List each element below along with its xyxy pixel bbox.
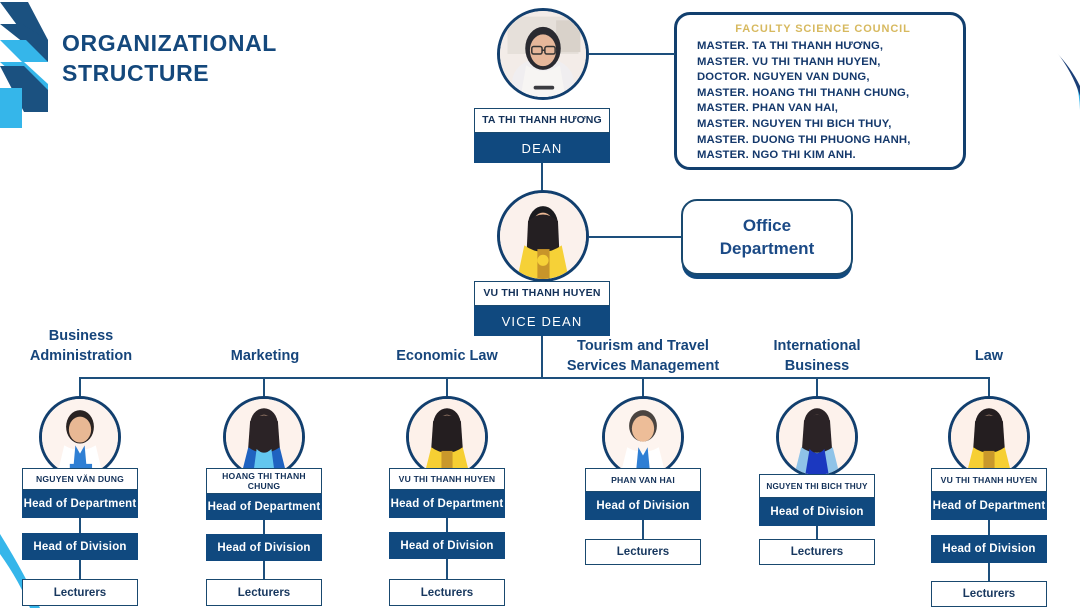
dept-title-line1: Economic Law (396, 348, 498, 364)
council-member-list: MASTER. TA THI THANH HƯƠNG, MASTER. VU T… (697, 39, 949, 164)
office-department-line2: Department (720, 239, 814, 258)
dept-title-line2: Business (785, 358, 849, 374)
council-member: MASTER. HOANG THI THANH CHUNG, (697, 86, 949, 102)
avatar-vice-dean (497, 190, 589, 282)
connector-dept-2-a (263, 520, 265, 534)
dept-title-marketing: Marketing (184, 346, 346, 366)
dean-role: DEAN (522, 141, 563, 156)
dept-3-box-head-of-department: Head of Department (389, 490, 505, 518)
dept-2-name-box: HOANG THI THANH CHUNG (206, 468, 322, 494)
decorative-swoosh-top-right (960, 0, 1080, 110)
connector-dept-1-a (79, 518, 81, 533)
dept-6-box-lecturers: Lecturers (931, 581, 1047, 607)
vice-dean-role-box: VICE DEAN (474, 306, 610, 336)
dept-1-box-lecturers: Lecturers (22, 579, 138, 606)
avatar-dept-1 (39, 396, 121, 478)
page-title-line2: STRUCTURE (62, 58, 392, 88)
office-department-box: Office Department (681, 199, 853, 275)
dept-4-box-head-of-division: Head of Division (585, 492, 701, 520)
dept-title-law: Law (908, 346, 1070, 366)
dept-title-business-administration: Business Administration (0, 326, 162, 366)
dept-6-name-box: VU THI THANH HUYEN (931, 468, 1047, 492)
vice-dean-name-box: VU THI THANH HUYEN (474, 281, 610, 306)
dept-4-box-lecturers: Lecturers (585, 539, 701, 565)
dept-1-name-box: NGUYEN VĂN DUNG (22, 468, 138, 490)
page-title: ORGANIZATIONAL STRUCTURE (62, 28, 392, 88)
connector-dean-to-council (589, 53, 675, 55)
vice-dean-name: VU THI THANH HUYEN (483, 288, 600, 299)
dept-3-name: VU THI THANH HUYEN (399, 474, 496, 485)
vice-dean-role: VICE DEAN (502, 314, 583, 329)
connector-dept-6-b (988, 563, 990, 581)
council-member: MASTER. DUONG THI PHUONG HANH, (697, 133, 949, 149)
connector-dept-5-a (816, 526, 818, 539)
dept-title-line1: International (773, 338, 860, 354)
dept-3-name-box: VU THI THANH HUYEN (389, 468, 505, 490)
dept-title-economic-law: Economic Law (366, 346, 528, 366)
avatar-dept-2 (223, 396, 305, 478)
dept-title-line1: Marketing (231, 348, 300, 364)
connector-dept-1-b (79, 560, 81, 579)
connector-dept-4-a (642, 520, 644, 539)
dept-3-box-lecturers: Lecturers (389, 579, 505, 606)
page-title-line1: ORGANIZATIONAL (62, 30, 277, 56)
dept-title-tourism-and-travel: Tourism and Travel Services Management (541, 336, 745, 376)
connector-dept-6-a (988, 520, 990, 535)
dept-title-line2: Administration (30, 348, 132, 364)
council-member: MASTER. VU THI THANH HUYEN, (697, 55, 949, 71)
council-member: MASTER. NGO THI KIM ANH. (697, 148, 949, 164)
avatar-dept-5 (776, 396, 858, 478)
dept-title-international-business: International Business (736, 336, 898, 376)
dept-5-box-head-of-division: Head of Division (759, 498, 875, 526)
department-bus-line (80, 377, 990, 379)
dept-6-box-head-of-department: Head of Department (931, 492, 1047, 520)
brand-logo-icon (0, 0, 50, 128)
council-member: MASTER. NGUYEN THI BICH THUY, (697, 117, 949, 133)
dept-4-name: PHAN VAN HAI (611, 475, 675, 486)
dept-2-box-head-of-department: Head of Department (206, 494, 322, 520)
dept-1-box-head-of-division: Head of Division (22, 533, 138, 560)
avatar-dept-4 (602, 396, 684, 478)
connector-dept-2-b (263, 561, 265, 579)
dean-name: TA THI THANH HƯƠNG (482, 115, 602, 126)
avatar-dean (497, 8, 589, 100)
dept-2-box-lecturers: Lecturers (206, 579, 322, 606)
dept-1-name: NGUYEN VĂN DUNG (36, 474, 124, 485)
avatar-dept-6 (948, 396, 1030, 478)
dept-title-line1: Law (975, 348, 1003, 364)
connector-dept-3-b (446, 559, 448, 579)
connector-dept-3-a (446, 518, 448, 532)
dept-4-name-box: PHAN VAN HAI (585, 468, 701, 492)
avatar-dept-3 (406, 396, 488, 478)
dean-role-box: DEAN (474, 133, 610, 163)
dept-5-name-box: NGUYEN THI BICH THUY (759, 474, 875, 498)
dept-6-box-head-of-division: Head of Division (931, 535, 1047, 563)
dept-5-name: NGUYEN THI BICH THUY (766, 481, 867, 492)
connector-vicedean-to-office (589, 236, 682, 238)
council-title: FACULTY SCIENCE COUNCIL (697, 23, 949, 35)
dept-2-name: HOANG THI THANH CHUNG (209, 471, 319, 491)
faculty-science-council-card: FACULTY SCIENCE COUNCIL MASTER. TA THI T… (674, 12, 966, 170)
council-member: DOCTOR. NGUYEN VAN DUNG, (697, 70, 949, 86)
dept-2-box-head-of-division: Head of Division (206, 534, 322, 561)
dept-title-line1: Tourism and Travel (577, 338, 709, 354)
dept-5-box-lecturers: Lecturers (759, 539, 875, 565)
dept-6-name: VU THI THANH HUYEN (941, 475, 1038, 486)
office-department-line1: Office (743, 216, 791, 235)
dean-name-box: TA THI THANH HƯƠNG (474, 108, 610, 133)
dept-title-line2: Services Management (567, 358, 719, 374)
dept-title-line1: Business (49, 328, 113, 344)
council-member: MASTER. TA THI THANH HƯƠNG, (697, 39, 949, 55)
council-member: MASTER. PHAN VAN HAI, (697, 101, 949, 117)
dept-1-box-head-of-department: Head of Department (22, 490, 138, 518)
dept-3-box-head-of-division: Head of Division (389, 532, 505, 559)
